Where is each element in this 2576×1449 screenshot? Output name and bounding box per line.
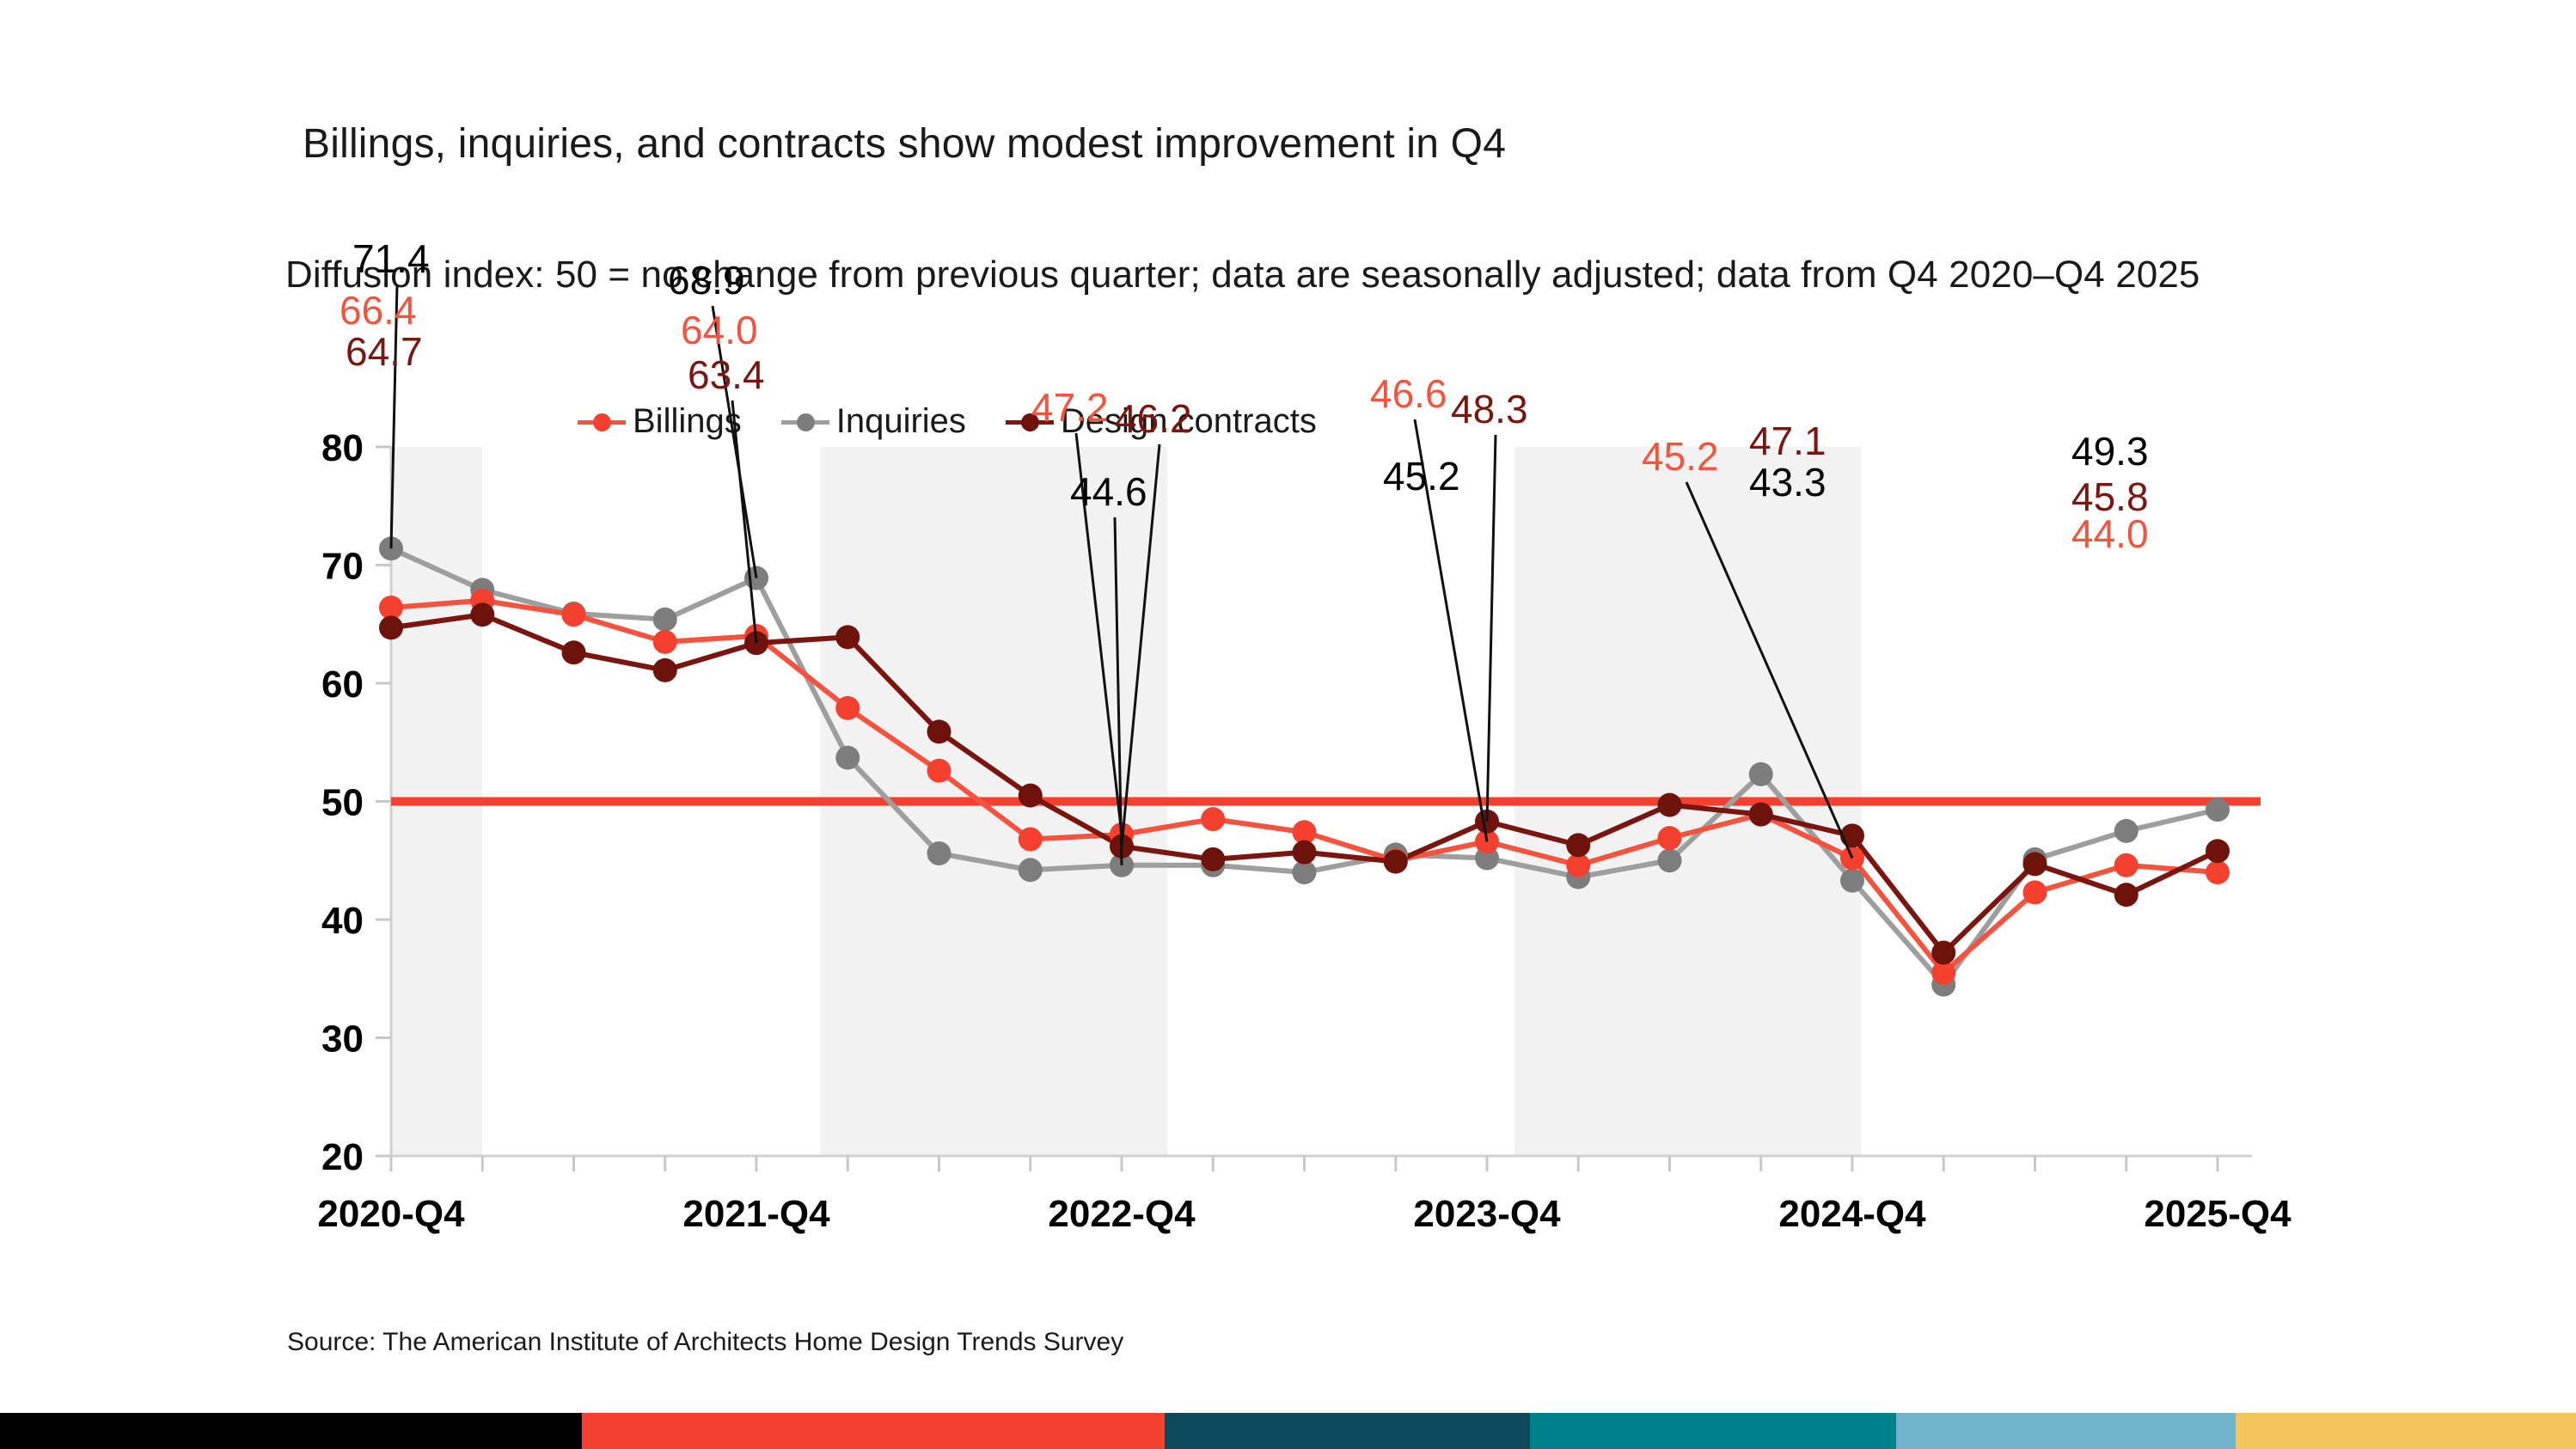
data-point-design-contracts: [927, 719, 951, 743]
footer-segment-light-blue: [1896, 1413, 2236, 1449]
source-note: Source: The American Institute of Archit…: [287, 1328, 1123, 1357]
line-chart: 20304050607080 71.466.464.768.964.063.44…: [0, 0, 2576, 1449]
footer-segment-teal: [1530, 1413, 1896, 1449]
data-point-design-contracts: [1658, 793, 1682, 817]
point-label: 64.7: [346, 329, 423, 374]
data-point-billings: [2023, 880, 2047, 904]
point-label: 48.3: [1451, 387, 1528, 431]
data-point-inquiries: [2206, 798, 2230, 822]
data-point-billings: [2114, 853, 2139, 877]
point-label: 47.1: [1749, 419, 1826, 463]
footer-segment-dark-teal: [1165, 1413, 1531, 1449]
data-point-design-contracts: [2023, 852, 2047, 876]
point-label: 45.2: [1383, 454, 1460, 498]
point-label: 44.0: [2071, 511, 2149, 556]
data-point-design-contracts: [1019, 784, 1043, 808]
point-label: 66.4: [340, 288, 417, 333]
data-point-billings: [1658, 826, 1682, 850]
y-tick-label: 20: [321, 1136, 364, 1178]
data-point-design-contracts: [1293, 841, 1317, 865]
data-point-design-contracts: [379, 615, 403, 639]
footer-color-bar: [0, 1413, 2576, 1449]
footer-segment-black: [0, 1413, 582, 1449]
data-point-billings: [562, 602, 586, 627]
point-label: 71.4: [352, 236, 430, 281]
data-point-inquiries: [653, 608, 677, 632]
point-label: 46.6: [1370, 371, 1447, 416]
x-tick-label: 2020-Q4: [317, 1193, 465, 1235]
point-label: 64.0: [681, 308, 758, 352]
point-label: 43.3: [1749, 460, 1826, 504]
data-point-design-contracts: [1201, 847, 1225, 871]
x-axis-ticks: 2020-Q42021-Q42022-Q42023-Q42024-Q42025-…: [317, 1156, 2291, 1235]
data-point-design-contracts: [470, 602, 494, 627]
point-label: 45.2: [1642, 434, 1719, 479]
y-tick-label: 60: [321, 663, 364, 706]
leader-line: [732, 400, 756, 643]
data-point-design-contracts: [1931, 941, 1955, 965]
data-point-billings: [835, 696, 860, 720]
data-point-inquiries: [1749, 762, 1773, 786]
point-label: 63.4: [688, 352, 765, 397]
x-tick-label: 2022-Q4: [1048, 1193, 1196, 1235]
data-point-design-contracts: [1749, 803, 1773, 827]
data-point-billings: [1201, 807, 1225, 831]
data-point-inquiries: [927, 841, 951, 865]
data-point-inquiries: [1019, 858, 1043, 882]
y-tick-label: 80: [321, 427, 364, 469]
footer-segment-yellow: [2236, 1413, 2576, 1449]
data-point-design-contracts: [562, 640, 586, 664]
x-tick-label: 2024-Q4: [1778, 1193, 1926, 1235]
x-tick-label: 2025-Q4: [2144, 1193, 2291, 1235]
point-value-labels: 71.466.464.768.964.063.447.246.244.646.6…: [340, 236, 2149, 556]
point-label: 47.2: [1031, 385, 1109, 430]
data-point-inquiries: [835, 746, 860, 770]
data-point-design-contracts: [1840, 823, 1864, 847]
footer-segment-red: [582, 1413, 1164, 1449]
data-point-billings: [653, 630, 677, 654]
data-point-billings: [927, 759, 951, 783]
data-point-billings: [2206, 860, 2230, 884]
data-point-design-contracts: [653, 658, 677, 682]
data-point-design-contracts: [1384, 850, 1408, 874]
y-tick-label: 50: [321, 782, 364, 824]
y-tick-label: 40: [321, 900, 364, 942]
y-axis-ticks: 20304050607080: [321, 427, 391, 1178]
point-label: 46.2: [1115, 396, 1192, 441]
point-label: 68.9: [668, 258, 745, 303]
series-points: [379, 536, 2230, 996]
x-tick-label: 2023-Q4: [1413, 1193, 1561, 1235]
data-point-billings: [1019, 828, 1043, 852]
data-point-design-contracts: [2114, 883, 2139, 907]
point-label: 44.6: [1070, 469, 1147, 514]
data-point-design-contracts: [2206, 839, 2230, 863]
series-line-billings: [391, 601, 2218, 973]
x-tick-label: 2021-Q4: [682, 1193, 830, 1235]
data-point-design-contracts: [1566, 833, 1590, 857]
leader-line: [1487, 435, 1496, 822]
y-tick-label: 30: [321, 1018, 364, 1061]
data-point-inquiries: [1658, 848, 1682, 872]
data-point-design-contracts: [835, 625, 860, 649]
y-tick-label: 70: [321, 546, 364, 588]
point-label: 49.3: [2071, 429, 2149, 474]
data-point-inquiries: [1840, 869, 1864, 893]
data-point-inquiries: [2114, 819, 2139, 843]
